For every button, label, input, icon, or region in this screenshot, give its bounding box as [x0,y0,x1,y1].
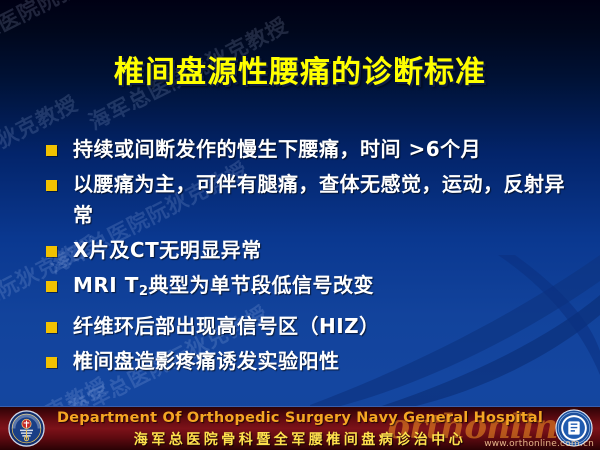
list-item-label: X片及CT无明显异常 [73,235,262,266]
square-bullet-icon [46,322,57,333]
footer-chinese-title: 海军总医院骨科暨全军腰椎间盘病诊治中心 [0,429,600,449]
orthonline-logo [555,409,593,447]
square-bullet-icon [46,145,57,156]
list-item: 以腰痛为主，可伴有腿痛，查体无感觉，运动，反射异常 [46,169,566,231]
square-bullet-icon [46,357,57,368]
square-bullet-icon [46,246,57,257]
list-item: 持续或间断发作的慢生下腰痛，时间 >6个月 [46,134,566,165]
list-item-label: 纤维环后部出现高信号区（HIZ） [73,311,380,342]
list-item-label: MRI T2典型为单节段低信号改变 [73,270,374,307]
square-bullet-icon [46,180,57,191]
list-item: 椎间盘造影疼痛诱发实验阳性 [46,346,566,377]
slide-footer: orthonline Department Of Orthopedic Surg… [0,406,600,450]
navy-general-hospital-emblem [8,410,45,447]
list-item-label: 椎间盘造影疼痛诱发实验阳性 [73,346,340,377]
slide-title: 椎间盘源性腰痛的诊断标准 [0,47,600,91]
list-item: 纤维环后部出现高信号区（HIZ） [46,311,566,342]
footer-english-title: Department Of Orthopedic Surgery Navy Ge… [0,410,600,426]
bullet-list: 持续或间断发作的慢生下腰痛，时间 >6个月 以腰痛为主，可伴有腿痛，查体无感觉，… [46,134,566,381]
square-bullet-icon [46,281,57,292]
list-item: X片及CT无明显异常 [46,235,566,266]
list-item: MRI T2典型为单节段低信号改变 [46,270,566,307]
list-item-label: 持续或间断发作的慢生下腰痛，时间 >6个月 [73,134,481,165]
list-item-label: 以腰痛为主，可伴有腿痛，查体无感觉，运动，反射异常 [73,169,566,231]
presentation-slide: 海军总医院阮狄克教授 海军总医院阮狄克教授 海军总医院阮狄克教授 海军总医院阮狄… [0,0,600,450]
